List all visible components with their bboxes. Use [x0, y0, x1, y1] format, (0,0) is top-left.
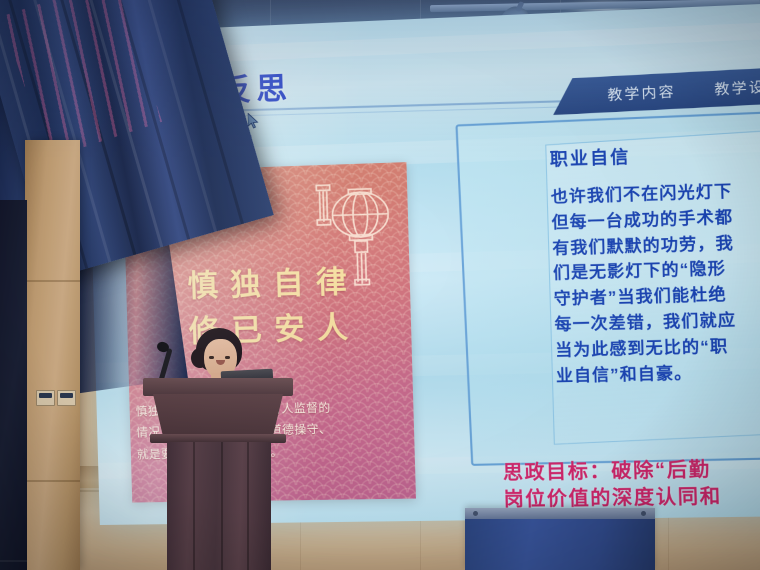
nav-item-teaching-design[interactable]: 教学设: [714, 76, 760, 99]
right-panel-heading: 职业自信: [549, 142, 630, 171]
goal-line: 思政目标：破除“后勤: [503, 457, 722, 487]
speaker-cabinet: [465, 508, 655, 570]
lectern-column: [167, 442, 271, 570]
light-switch[interactable]: [36, 390, 55, 406]
lectern-front-panel: [153, 394, 283, 438]
photo-scene: 教学反思 ➤ 思政教育 教学内容 教学设: [0, 0, 760, 570]
right-panel-body: 也许我们不在闪光灯下 但每一台成功的手术都 有我们默默的功劳，我 们是无影灯下的…: [551, 174, 760, 390]
lectern-top: [143, 378, 293, 396]
lectern: [143, 378, 293, 570]
ideological-goal-text: 思政目标：破除“后勤 岗位价值的深度认同和: [503, 457, 723, 513]
speaker-cabinet-top: [465, 508, 655, 519]
light-switch[interactable]: [57, 390, 76, 406]
light-switch-panel[interactable]: [36, 390, 76, 406]
mouse-cursor-icon: [248, 113, 260, 130]
doorway: [0, 200, 27, 570]
slide-navbar: 教学内容 教学设: [552, 60, 760, 115]
nav-item-teaching-content[interactable]: 教学内容: [607, 80, 676, 104]
wall-pillar: [25, 140, 80, 570]
